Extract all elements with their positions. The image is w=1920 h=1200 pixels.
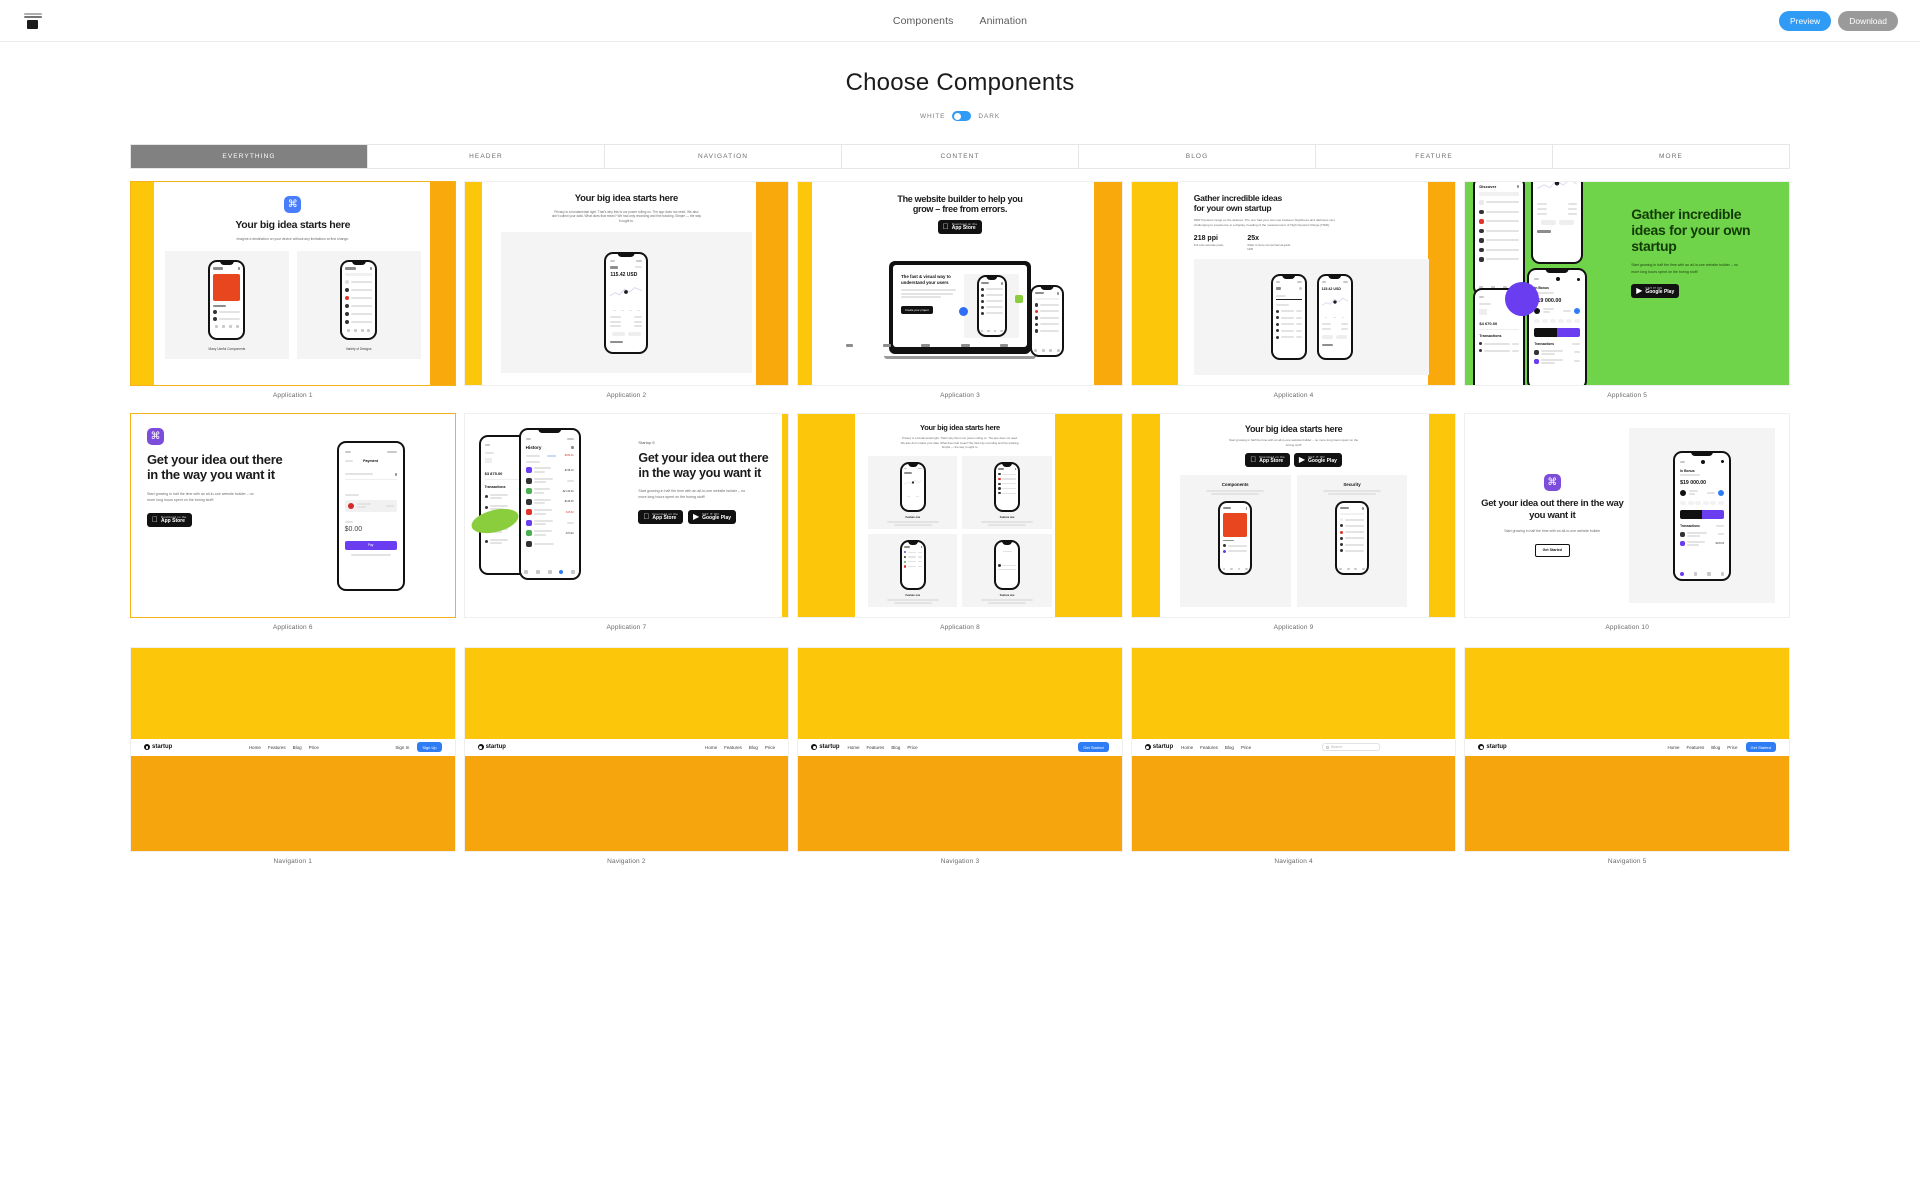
get-started-button[interactable]: Get Started [1535,544,1570,557]
phone-cluster: Discover [1465,182,1627,385]
nav-link-blog[interactable]: Blog [293,745,302,750]
laptop-mockup: The fast & visual way to understand your… [889,261,1031,354]
stat-block: 25x Wider in-focus normal interval guide… [1247,235,1293,252]
component-grid-row-3: startup Home Features Blog Price Sign In… [130,647,1790,865]
phone-stage: In Bonus $19 000.00 [1629,428,1775,603]
stat-value: 218 ppi [1194,235,1224,242]
component-card-application-8[interactable]: Your big idea starts here Privacy is a f… [797,413,1123,631]
brand-dot-icon [1478,744,1484,750]
feature-tile-label: Feature one [905,594,920,597]
component-card-application-6[interactable]: ⌘ Get your idea out there in the way you… [130,413,456,631]
brand-label: startup [819,744,839,750]
page-header: Choose Components WHITE DARK [0,42,1920,121]
navbar-preview: startup Home Features Blog Price Search [1132,739,1456,756]
card-subtext: Start growing in half the time with an a… [1229,438,1359,447]
component-thumbnail[interactable]: $3 875.00 Transactions [464,413,790,618]
card-subtext: Start growing in half the time with an a… [1631,262,1743,275]
component-thumbnail[interactable]: startup Home Features Blog Price Get Sta… [1464,647,1790,852]
search-placeholder: Search [1331,745,1342,749]
brand-logo[interactable]: startup [478,744,506,750]
card-caption: Navigation 2 [464,852,790,865]
card-caption: Navigation 3 [797,852,1123,865]
tab-content[interactable]: CONTENT [841,145,1078,168]
play-triangle-icon: ▶ [1299,456,1305,464]
card-caption: Application 2 [464,386,790,399]
top-nav-item-components[interactable]: Components [893,15,954,27]
tab-navigation[interactable]: NAVIGATION [604,145,841,168]
navbar-links: Home Features Blog Price [705,745,775,750]
feature-tile: Feature one [868,534,957,607]
top-bar: Components Animation Preview Download [0,0,1920,42]
brand-label: startup [152,744,172,750]
card-headline: Your big idea starts here [1245,424,1342,434]
nav-link-price[interactable]: Price [907,745,917,750]
play-triangle-icon: ▶ [693,513,699,521]
apple-icon:  [152,516,158,524]
navbar-preview: startup Home Features Blog Price [465,739,789,756]
component-thumbnail[interactable]: startup Home Features Blog Price [464,647,790,852]
feature-tile-label: Feature one [1000,516,1015,519]
theme-label-white: WHITE [920,113,945,120]
badge-label: App Store [161,519,187,524]
tab-feature[interactable]: FEATURE [1315,145,1552,168]
card-headline: Get your idea out there in the way you w… [1479,498,1625,521]
card-headline: Get your idea out there in the way you w… [638,451,772,480]
stat-block: 218 ppi Full color accurate pixels [1194,235,1224,252]
feature-tile-label: Components [1222,482,1249,487]
component-thumbnail[interactable]: ⌘ Get your idea out there in the way you… [130,413,456,618]
brand-logo[interactable]: startup [1478,744,1506,750]
app-store-badge[interactable]:  Download on theApp Store [1245,453,1290,467]
card-subtext: Privacy is a fundamental right. That's w… [551,210,701,224]
nav-link-blog[interactable]: Blog [1225,745,1234,750]
component-thumbnail[interactable]: Your big idea starts here Privacy is a f… [464,181,790,386]
google-play-badge[interactable]: ▶ GET IT ONGoogle Play [1294,453,1342,467]
feature-tile-label: Feature one [905,516,920,519]
brand-logo[interactable]: startup [144,744,172,750]
component-thumbnail[interactable]: Your big idea starts here Privacy is a f… [797,413,1123,618]
stat-label: Wider in-focus normal interval guide HDR [1247,244,1293,252]
card-headline: Your big idea starts here [235,220,350,232]
nav-link-features[interactable]: Features [724,745,742,750]
tab-everything[interactable]: EVERYTHING [131,145,367,168]
component-card-application-10[interactable]: ⌘ Get your idea out there in the way you… [1464,413,1790,631]
card-caption: Navigation 4 [1131,852,1457,865]
brand-dot-icon [144,744,150,750]
brand-label: startup [1486,744,1506,750]
card-subtext: Imagine a destination on your device wit… [237,237,350,242]
tab-blog[interactable]: BLOG [1078,145,1315,168]
component-card-navigation-2[interactable]: startup Home Features Blog Price Navigat… [464,647,790,865]
tab-more[interactable]: MORE [1552,145,1789,168]
brand-dot-icon [1145,744,1151,750]
nav-link-price[interactable]: Price [765,745,775,750]
feature-tile-label: Security [1343,482,1360,487]
brand-label: startup [486,744,506,750]
card-caption: Application 10 [1464,618,1790,631]
search-icon [1326,746,1329,749]
component-grid-row-1: ⌘ Your big idea starts here Imagine a de… [130,181,1790,399]
nav-link-price[interactable]: Price [309,745,319,750]
nav-link-home[interactable]: Home [249,745,261,750]
navbar-links: Home Features Blog Price [848,745,918,750]
card-caption: Application 3 [797,386,1123,399]
card-caption: Application 9 [1131,618,1457,631]
sign-in-link[interactable]: Sign In [395,745,409,750]
card-headline: Your big idea starts here [575,194,678,205]
component-card-navigation-5[interactable]: startup Home Features Blog Price Get Sta… [1464,647,1790,865]
feature-tile: Feature one [868,456,957,529]
phone-amount: 115.42 USD [610,272,642,278]
component-card-application-5[interactable]: Discover [1464,181,1790,399]
card-subtext: Start growing in half the time with an a… [638,488,746,501]
phone-screen-title: Payment [363,459,378,463]
navbar-preview: startup Home Features Blog Price Get Sta… [798,739,1122,756]
component-thumbnail[interactable]: startup Home Features Blog Price Search [1131,647,1457,852]
component-card-navigation-1[interactable]: startup Home Features Blog Price Sign In… [130,647,456,865]
component-card-navigation-3[interactable]: startup Home Features Blog Price Get Sta… [797,647,1123,865]
nav-link-blog[interactable]: Blog [749,745,758,750]
top-bar-actions: Preview Download [1779,11,1898,31]
sign-up-button[interactable]: Sign Up [417,742,441,752]
card-eyebrow: Startup 5 [638,440,772,446]
nav-link-price[interactable]: Price [1727,745,1737,750]
theme-label-dark: DARK [978,113,1000,120]
feature-tile-label: Variety of Designs [346,347,372,351]
category-tabs: EVERYTHING HEADER NAVIGATION CONTENT BLO… [130,144,1790,169]
feature-tile: Variety of Designs [297,251,421,359]
feature-tile: Security [1297,475,1408,607]
card-headline: Your big idea starts here [920,424,1000,432]
feature-tile-label: Many Useful Components [209,347,246,351]
nav-link-features[interactable]: Features [1200,745,1218,750]
top-nav: Components Animation [0,15,1920,27]
badge-label: Google Play [1308,459,1337,464]
theme-toggle[interactable]: WHITE DARK [0,111,1920,121]
theme-switch-knob [954,113,961,120]
sparkline-chart [610,282,642,302]
apple-icon:  [643,513,649,521]
play-triangle-icon: ▶ [1636,287,1642,295]
feature-tile: Components [1180,475,1291,607]
phone-balance: $19 000.00 [1680,480,1724,486]
phone-balance: $19 000.00 [1534,298,1580,304]
navbar-links: Home Features Blog Price [249,745,319,750]
google-play-badge[interactable]: ▶ GET IT ONGoogle Play [1631,284,1679,298]
component-card-application-1[interactable]: ⌘ Your big idea starts here Imagine a de… [130,181,456,399]
accent-dot-blue [959,307,968,316]
card-caption: Application 8 [797,618,1123,631]
apple-icon:  [1250,456,1256,464]
component-card-application-3[interactable]: The website builder to help you grow – f… [797,181,1123,399]
theme-switch[interactable] [952,111,971,121]
search-input[interactable]: Search [1322,743,1380,751]
nav-link-features[interactable]: Features [268,745,286,750]
card-caption: Application 4 [1131,386,1457,399]
card-headline-line2: grow – free from errors. [913,204,1007,214]
page-title: Choose Components [0,69,1920,97]
download-button[interactable]: Download [1838,11,1898,31]
component-thumbnail[interactable]: Discover [1464,181,1790,386]
component-grid-row-2: ⌘ Get your idea out there in the way you… [130,413,1790,631]
laptop-base [884,356,1036,359]
card-caption: Navigation 5 [1464,852,1790,865]
stat-label: Full color accurate pixels [1194,244,1224,248]
component-card-navigation-4[interactable]: startup Home Features Blog Price Search [1131,647,1457,865]
feature-tile-label: Feature one [1000,594,1015,597]
preview-button[interactable]: Preview [1779,11,1831,31]
brand-logo[interactable]: startup [811,744,839,750]
nav-link-price[interactable]: Price [1241,745,1251,750]
nav-link-home[interactable]: Home [848,745,860,750]
navbar-links: Home Features Blog Price [1181,745,1251,750]
laptop-cta[interactable]: Create your project [901,306,933,314]
apple-icon:  [943,223,949,231]
feature-tile: Many Useful Components [165,251,289,359]
badge-label: App Store [652,516,678,521]
app-store-badge[interactable]:  Download on theApp Store [938,220,983,234]
phone-stage: 115.42 USD [501,232,753,373]
nav-link-features[interactable]: Features [867,745,885,750]
component-thumbnail[interactable]: ⌘ Get your idea out there in the way you… [1464,413,1790,618]
feature-tile: Feature one [962,456,1051,529]
brand-label: startup [1153,744,1173,750]
card-subtext: HDR Dynamic range so the wideout. The on… [1194,218,1346,227]
phone-screen-title: Discover [1479,184,1496,189]
nav-link-blog[interactable]: Blog [1711,745,1720,750]
laptop-headline: The fast & visual way to understand your… [901,274,958,285]
card-caption: Application 5 [1464,386,1790,399]
card-headline: Get your idea out there in the way you w… [147,452,297,482]
component-card-application-7[interactable]: $3 875.00 Transactions [464,413,790,631]
navbar-preview: startup Home Features Blog Price Get Sta… [1465,739,1789,756]
card-caption: Application 6 [130,618,456,631]
accent-dot-green [1015,295,1023,303]
nav-link-home[interactable]: Home [1181,745,1193,750]
google-play-badge[interactable]: ▶ GET IT ONGoogle Play [688,510,736,524]
card-subtext: Privacy is a fundamental right. That's w… [900,436,1020,449]
brand-dot-icon [478,744,484,750]
component-card-application-9[interactable]: Your big idea starts here Start growing … [1131,413,1457,631]
card-subtext: Start growing in half the time with an a… [1504,529,1600,535]
feature-tile: Feature one [962,534,1051,607]
component-thumbnail[interactable]: ⌘ Your big idea starts here Imagine a de… [130,181,456,386]
phone-mockup [1030,285,1064,357]
brand-logo[interactable]: startup [1145,744,1173,750]
nav-link-blog[interactable]: Blog [891,745,900,750]
card-caption: Application 1 [130,386,456,399]
navbar-links: Home Features Blog Price [1667,745,1737,750]
component-thumbnail[interactable]: startup Home Features Blog Price Sign In… [130,647,456,852]
badge-label: App Store [1259,459,1285,464]
card-caption: Application 7 [464,618,790,631]
command-icon: ⌘ [1544,474,1561,491]
phone-amount: $0.00 [345,526,397,533]
card-headline-line1: The website builder to help you [897,194,1022,204]
component-card-application-4[interactable]: Gather incredible ideas for your own sta… [1131,181,1457,399]
badge-label: Google Play [1645,290,1674,295]
nav-link-features[interactable]: Features [1686,745,1704,750]
component-thumbnail[interactable]: Gather incredible ideas for your own sta… [1131,181,1457,386]
top-nav-item-animation[interactable]: Animation [979,15,1027,27]
app-store-badge[interactable]:  Download on theApp Store [147,513,192,527]
navbar-preview: startup Home Features Blog Price Sign In… [131,739,455,756]
get-started-button[interactable]: Get Started [1746,742,1776,752]
component-card-application-2[interactable]: Your big idea starts here Privacy is a f… [464,181,790,399]
get-started-button[interactable]: Get Started [1078,742,1108,752]
app-store-badge[interactable]:  Download on theApp Store [638,510,683,524]
card-headline: Gather incredible ideas for your own sta… [1631,206,1771,254]
brand-dot-icon [811,744,817,750]
tab-header[interactable]: HEADER [367,145,604,168]
command-icon: ⌘ [147,428,164,445]
nav-link-home[interactable]: Home [705,745,717,750]
component-thumbnail[interactable]: Your big idea starts here Start growing … [1131,413,1457,618]
component-thumbnail[interactable]: The website builder to help you grow – f… [797,181,1123,386]
phone-stage: 115.42 USD [1194,259,1430,375]
badge-label: App Store [952,226,978,231]
card-subtext: Start growing in half the time with an a… [147,491,255,504]
card-headline-line2: for your own startup [1194,204,1430,214]
component-thumbnail[interactable]: startup Home Features Blog Price Get Sta… [797,647,1123,852]
card-caption: Navigation 1 [130,852,456,865]
nav-link-home[interactable]: Home [1667,745,1679,750]
phone-cta[interactable]: Pay [345,541,397,550]
command-icon: ⌘ [284,196,301,213]
badge-label: Google Play [702,516,731,521]
phone-screen-title: History [526,445,542,450]
stat-value: 25x [1247,235,1293,242]
